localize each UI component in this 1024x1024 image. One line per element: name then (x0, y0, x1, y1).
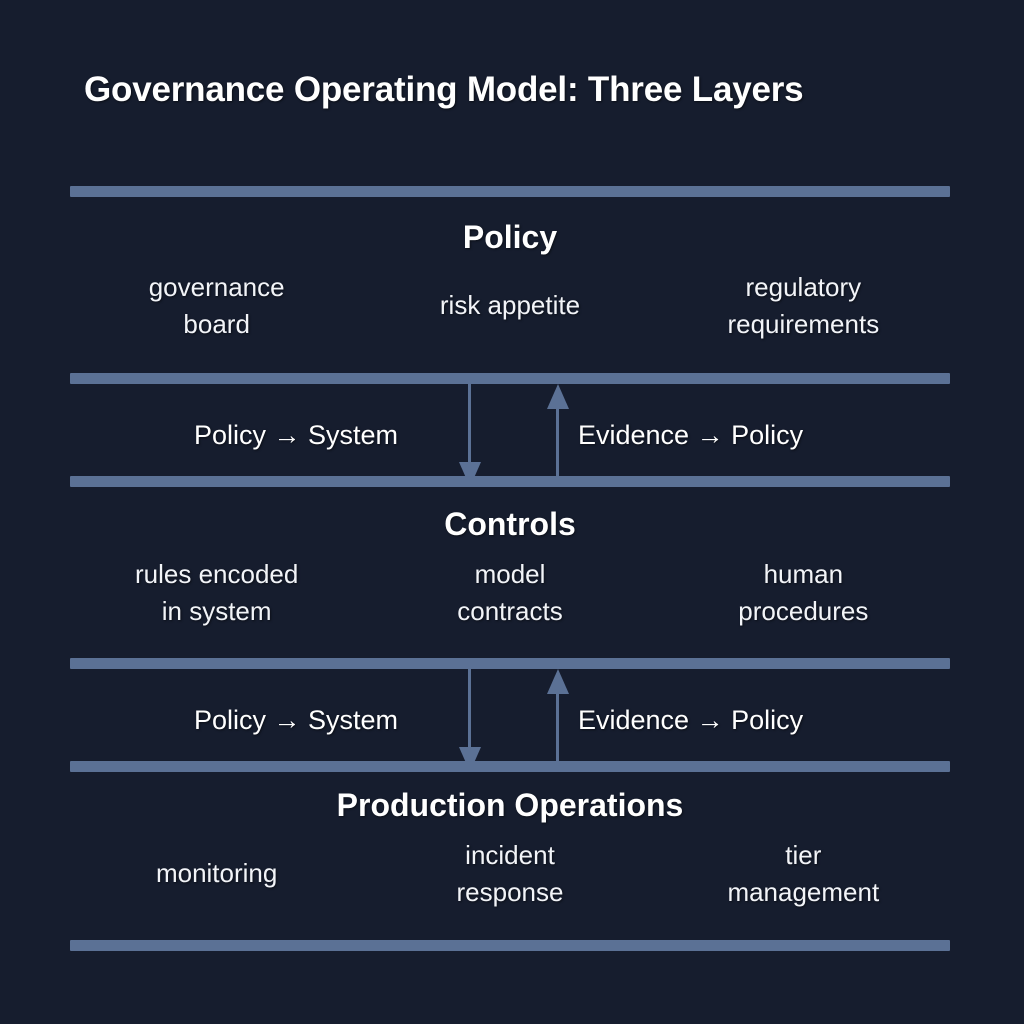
diagram-canvas: Governance Operating Model: Three Layers… (0, 0, 1024, 1024)
layer-item-line: requirements (657, 306, 950, 343)
divider-rule-6 (70, 940, 950, 951)
arrow-shaft (468, 669, 471, 751)
layer-controls-title: Controls (70, 507, 950, 542)
layer-item-incident-response: incident response (363, 837, 656, 911)
layer-policy: Policy governance board risk appetite re… (70, 220, 950, 343)
layer-item-regulatory-requirements: regulatory requirements (657, 269, 950, 343)
transition-label-policy-to-system: Policy → System (194, 420, 398, 451)
layer-item-tier-management: tier management (657, 837, 950, 911)
transition-label-evidence-to-policy: Evidence → Policy (578, 705, 803, 736)
layer-item-risk-appetite: risk appetite (363, 269, 656, 343)
transition-label-policy-to-system: Policy → System (194, 705, 398, 736)
layer-production-operations-title: Production Operations (70, 788, 950, 823)
arrow-shaft (556, 406, 559, 487)
layer-item-governance-board: governance board (70, 269, 363, 343)
arrow-down-icon (459, 384, 481, 487)
transition-band-1: Policy → System Evidence → Policy (70, 384, 950, 487)
layer-item-line: in system (70, 593, 363, 630)
arrow-shaft (468, 384, 471, 466)
divider-rule-4 (70, 658, 950, 669)
arrow-shaft (556, 691, 559, 772)
arrow-up-icon (547, 384, 569, 487)
layer-item-monitoring: monitoring (70, 837, 363, 911)
layer-item-line: management (657, 874, 950, 911)
layer-item-human-procedures: human procedures (657, 556, 950, 630)
layer-item-line: procedures (657, 593, 950, 630)
layer-item-line: human (657, 556, 950, 593)
layer-item-rules-encoded-in-system: rules encoded in system (70, 556, 363, 630)
divider-rule-2 (70, 373, 950, 384)
layer-item-line: contracts (363, 593, 656, 630)
layer-item-line: governance (70, 269, 363, 306)
layer-item-line: response (363, 874, 656, 911)
layer-controls-items: rules encoded in system model contracts … (70, 556, 950, 630)
divider-rule-1 (70, 186, 950, 197)
layer-item-line: rules encoded (70, 556, 363, 593)
layer-production-operations: Production Operations monitoring inciden… (70, 788, 950, 911)
transition-label-evidence-to-policy: Evidence → Policy (578, 420, 803, 451)
layer-item-line: risk appetite (363, 287, 656, 324)
layer-item-line: tier (657, 837, 950, 874)
divider-rule-5 (70, 761, 950, 772)
layer-item-line: incident (363, 837, 656, 874)
arrow-head (547, 669, 569, 694)
layer-item-line: monitoring (70, 855, 363, 892)
layer-item-model-contracts: model contracts (363, 556, 656, 630)
transition-band-2: Policy → System Evidence → Policy (70, 669, 950, 772)
layer-item-line: model (363, 556, 656, 593)
page-title: Governance Operating Model: Three Layers (84, 70, 964, 110)
layer-production-operations-items: monitoring incident response tier manage… (70, 837, 950, 911)
arrow-up-icon (547, 669, 569, 772)
layer-policy-title: Policy (70, 220, 950, 255)
layer-policy-items: governance board risk appetite regulator… (70, 269, 950, 343)
layer-controls: Controls rules encoded in system model c… (70, 507, 950, 630)
layer-item-line: board (70, 306, 363, 343)
divider-rule-3 (70, 476, 950, 487)
arrow-head (547, 384, 569, 409)
arrow-down-icon (459, 669, 481, 772)
layer-item-line: regulatory (657, 269, 950, 306)
